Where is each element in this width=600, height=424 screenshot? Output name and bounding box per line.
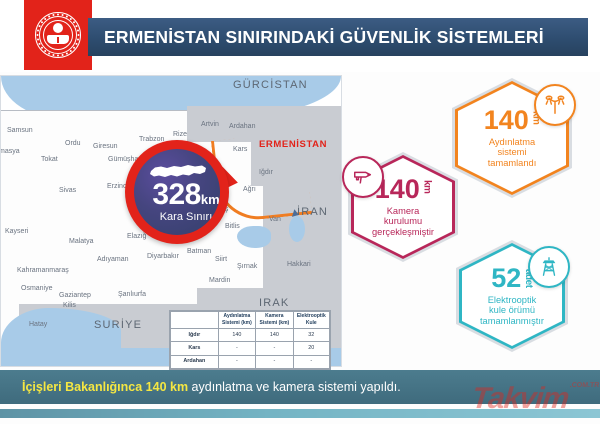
map-city-label: Diyarbakır: [147, 253, 179, 260]
map-city-label: Kilis: [63, 302, 76, 309]
street-lamp-icon: [534, 84, 576, 126]
table-cell: -: [256, 355, 293, 368]
map-city-label: Gaziantep: [59, 292, 91, 299]
map-city-label: Şırnak: [237, 263, 257, 270]
lake-urmia: [289, 216, 305, 242]
table-row-label: Kars: [171, 342, 219, 355]
table-cell: 32: [293, 329, 329, 342]
map-country-label: IRAK: [259, 297, 289, 309]
takvim-watermark: Takvim.COM.TR: [470, 382, 599, 416]
map-city-label: Van: [269, 216, 281, 223]
footer-rest: aydınlatma ve kamera sistemi yapıldı.: [188, 380, 401, 394]
badge-unit: km: [422, 180, 432, 193]
statistics-table: AydınlatmaSistemi (km)KameraSistemi (km)…: [170, 311, 330, 369]
footer-highlight: İçişleri Bakanlığınca 140 km: [22, 380, 188, 394]
badge-description: Kamerakurulumugerçekleşmiştir: [372, 206, 434, 237]
ministry-of-interior-emblem-icon: [35, 12, 81, 58]
map-city-label: Batman: [187, 248, 211, 255]
map-city-label: Hatay: [29, 321, 47, 328]
title-banner: ERMENİSTAN SINIRINDAKİ GÜVENLİK SİSTEMLE…: [88, 18, 588, 56]
infographic-page: ERMENİSTAN SINIRINDAKİ GÜVENLİK SİSTEMLE…: [0, 0, 600, 424]
table-row-label: Ardahan: [171, 355, 219, 368]
map-city-label: Malatya: [69, 238, 94, 245]
badge-value: 52adet: [491, 266, 533, 292]
table-cell: -: [218, 342, 255, 355]
map-city-label: Hakkari: [287, 261, 311, 268]
map-city-label: Adıyaman: [97, 256, 129, 263]
lake-van: [237, 226, 271, 248]
header: ERMENİSTAN SINIRINDAKİ GÜVENLİK SİSTEMLE…: [0, 0, 600, 72]
table-cell: 20: [293, 342, 329, 355]
map-city-label: Kars: [233, 146, 247, 153]
land-border-caption: Kara Sınırı: [134, 211, 220, 223]
land-border-badge: 328km Kara Sınırı: [125, 140, 229, 244]
map-country-label: GÜRCİSTAN: [233, 79, 308, 91]
map-city-label: Ağrı: [243, 186, 256, 193]
table-cell: 140: [218, 329, 255, 342]
table-header-row: AydınlatmaSistemi (km)KameraSistemi (km)…: [171, 312, 330, 329]
badge-value: 140km: [484, 108, 541, 134]
map-city-label: Kahramanmaraş: [17, 267, 69, 274]
map-city-label: Rize: [173, 131, 187, 138]
map-city-label: Sivas: [59, 187, 76, 194]
map-city-label: Siirt: [215, 256, 227, 263]
footer-text: İçişleri Bakanlığınca 140 km aydınlatma …: [0, 380, 401, 394]
table-column-header: ElektrooptikKule: [293, 312, 329, 329]
map-country-label: SURİYE: [94, 319, 142, 331]
map-city-label: Giresun: [93, 143, 118, 150]
page-title: ERMENİSTAN SINIRINDAKİ GÜVENLİK SİSTEMLE…: [88, 27, 544, 48]
table-cell: 140: [256, 329, 293, 342]
badge-description: Elektrooptikkule örümütamamlanmıştır: [480, 295, 544, 326]
map-city-label: masya: [0, 148, 20, 155]
map-city-label: Artvin: [201, 121, 219, 128]
table-column-header: [171, 312, 219, 329]
cctv-camera-icon: [342, 156, 384, 198]
map-city-label: Ardahan: [229, 123, 255, 130]
table-column-header: AydınlatmaSistemi (km): [218, 312, 255, 329]
badge-description: Aydınlatmasistemitamamlandı: [488, 137, 537, 168]
table-row: Kars--20: [171, 342, 330, 355]
table-cell: -: [218, 355, 255, 368]
map-city-label: Şanlıurfa: [118, 291, 146, 298]
table-column-header: KameraSistemi (km): [256, 312, 293, 329]
mediterranean-sea: [1, 308, 121, 366]
statistics-table-wrapper: AydınlatmaSistemi (km)KameraSistemi (km)…: [169, 310, 331, 370]
observation-tower-icon: [528, 246, 570, 288]
map-city-label: Ordu: [65, 140, 81, 147]
map-country-label: ERMENİSTAN: [259, 139, 327, 150]
badge-core: 328km Kara Sınırı: [134, 149, 220, 235]
map-city-label: Mardin: [209, 277, 230, 284]
table-row-label: Iğdır: [171, 329, 219, 342]
map-country-label: İRAN: [297, 206, 328, 218]
watermark-text: Takvim: [470, 382, 570, 415]
table-cell: -: [293, 355, 329, 368]
watermark-domain: .COM.TR: [569, 382, 599, 389]
table-row: Iğdır14014032: [171, 329, 330, 342]
map-city-label: Samsun: [7, 127, 33, 134]
land-border-value: 328km: [134, 180, 220, 210]
map-city-label: Tokat: [41, 156, 58, 163]
ministry-logo-box: [24, 0, 92, 70]
table-row: Ardahan---: [171, 355, 330, 368]
map-city-label: Kayseri: [5, 228, 28, 235]
map-city-label: Osmaniye: [21, 285, 53, 292]
table-cell: -: [256, 342, 293, 355]
map-city-label: Iğdır: [259, 169, 273, 176]
